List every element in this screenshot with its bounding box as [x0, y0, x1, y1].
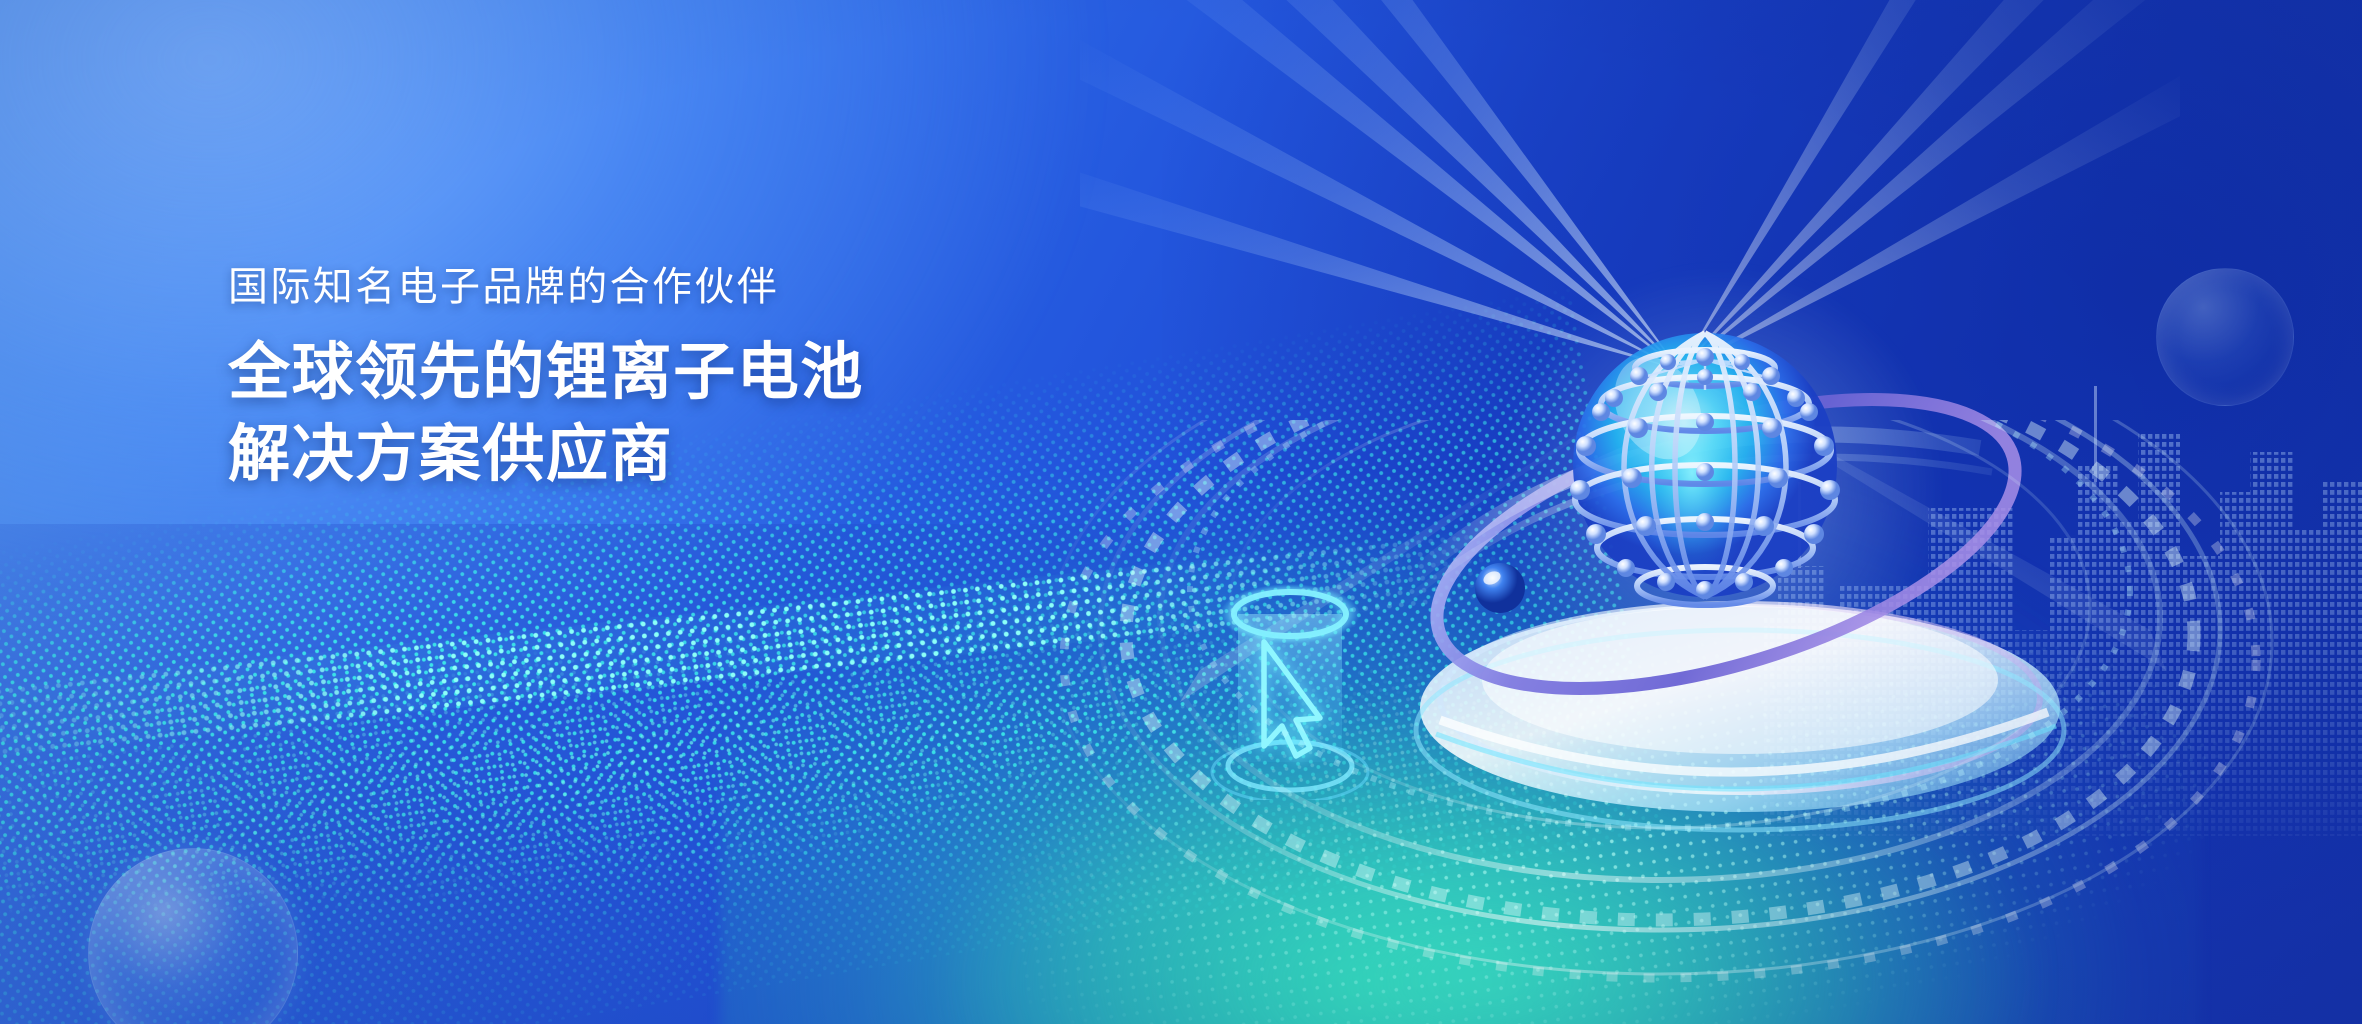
hero-headline: 全球领先的锂离子电池 解决方案供应商 [228, 332, 1128, 496]
wireframe-globe-graphic [1540, 300, 1870, 630]
hero-copy-block: 国际知名电子品牌的合作伙伴 全球领先的锂离子电池 解决方案供应商 [228, 262, 1128, 496]
portal-cursor-graphic [1190, 580, 1390, 800]
hero-banner: 国际知名电子品牌的合作伙伴 全球领先的锂离子电池 解决方案供应商 [0, 0, 2362, 1024]
hero-headline-line-2: 解决方案供应商 [228, 414, 1128, 496]
hero-headline-line-1: 全球领先的锂离子电池 [228, 332, 1128, 414]
hero-eyebrow: 国际知名电子品牌的合作伙伴 [228, 262, 1128, 312]
